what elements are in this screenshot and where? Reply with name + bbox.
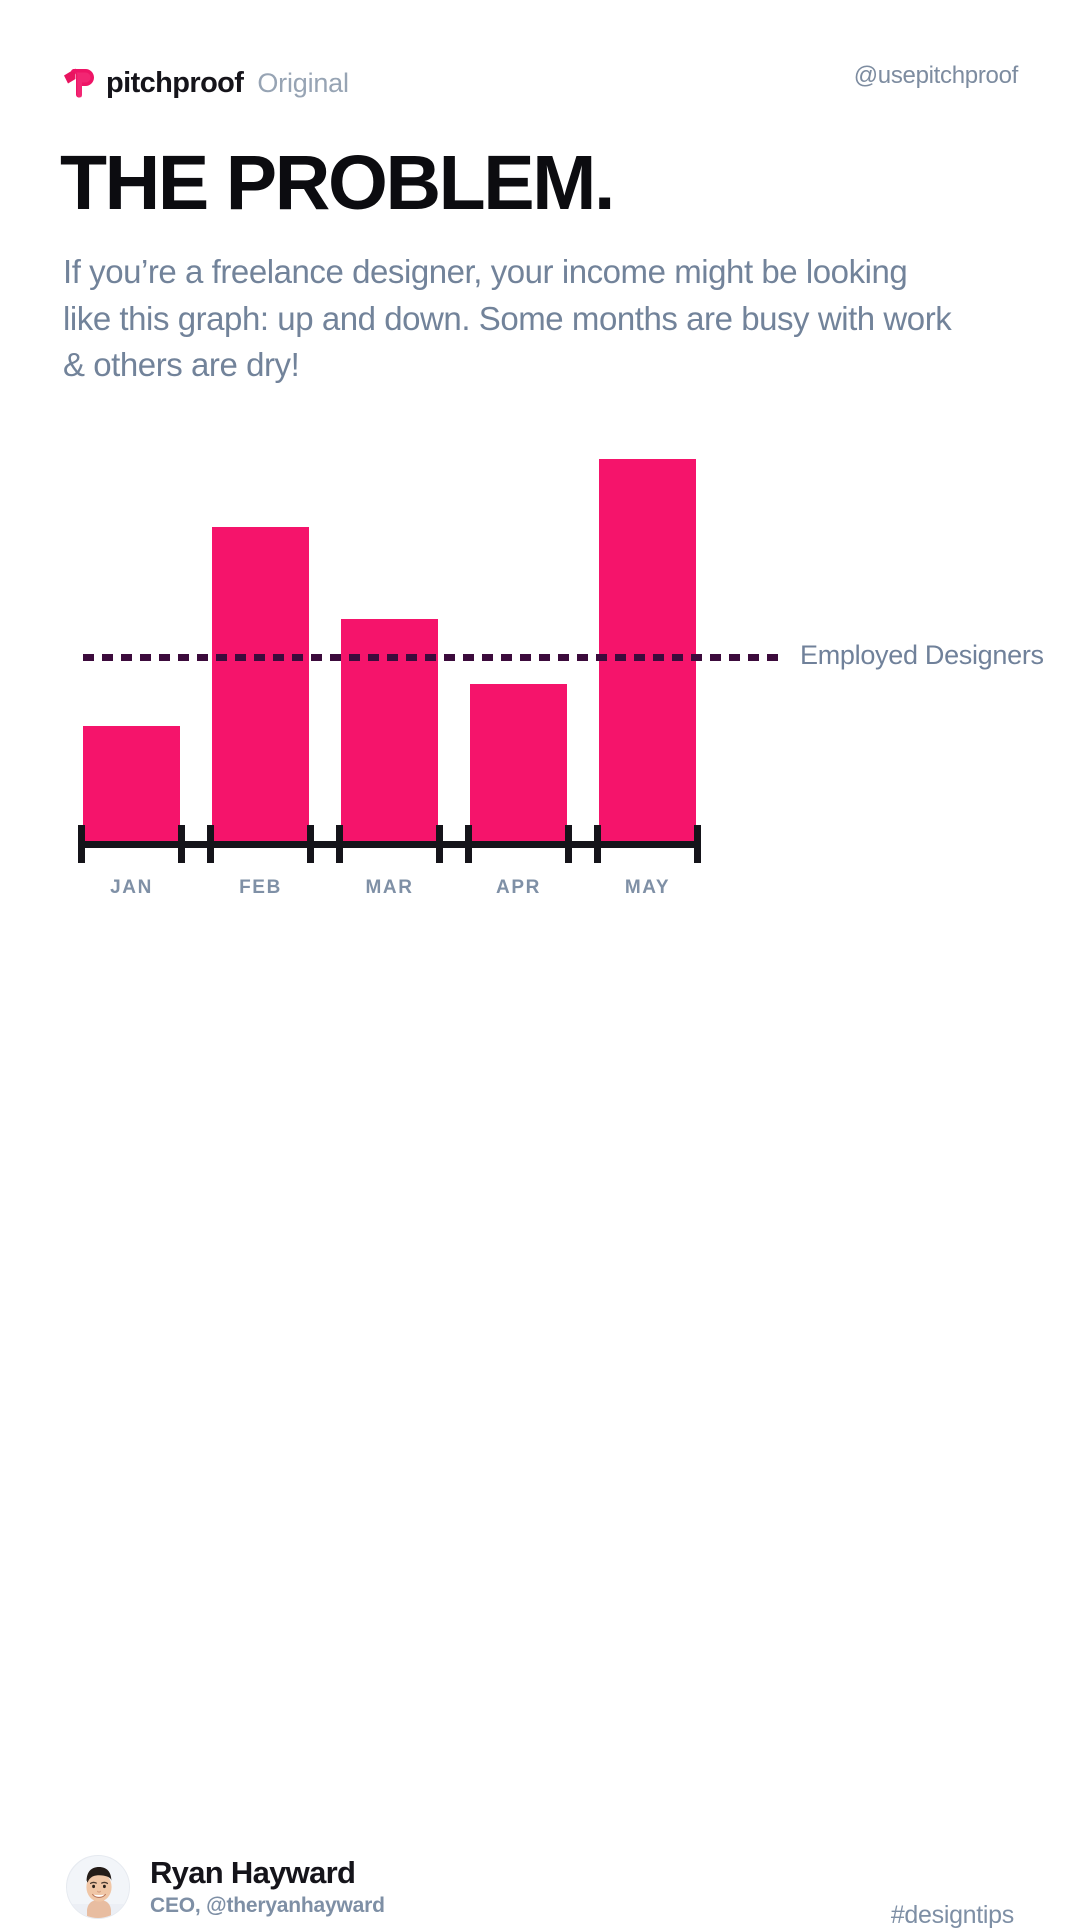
author-role: CEO, @theryanhayward [150, 1893, 385, 1919]
threshold-dashed-line [83, 654, 780, 661]
x-tick-label-feb: FEB [201, 877, 321, 899]
x-axis-tick [594, 825, 601, 863]
x-axis-tick [436, 825, 443, 863]
avatar [66, 1855, 130, 1919]
bar-chart: Employed Designers JANFEBMARAPRMAY [0, 400, 1080, 910]
pitchproof-logo-icon [62, 66, 96, 100]
page-description: If you’re a freelance designer, your inc… [63, 249, 963, 389]
brand-lockup[interactable]: pitchproof Original [62, 66, 349, 100]
author-block[interactable]: Ryan Hayward CEO, @theryanhayward [66, 1855, 385, 1919]
bar-apr [470, 684, 567, 841]
hashtag[interactable]: #designtips [891, 1901, 1014, 1930]
page-header: pitchproof Original @usepitchproof [0, 0, 1080, 130]
threshold-label: Employed Designers [800, 640, 1044, 671]
account-handle[interactable]: @usepitchproof [854, 62, 1018, 90]
author-name: Ryan Hayward [150, 1855, 385, 1891]
page-footer: Ryan Hayward CEO, @theryanhayward #desig… [0, 910, 1080, 1080]
brand-subtitle: Original [257, 66, 348, 100]
x-axis-tick [307, 825, 314, 863]
x-tick-label-jan: JAN [72, 877, 192, 899]
bar-jan [83, 726, 180, 841]
bar-may [599, 459, 696, 841]
x-axis-tick [565, 825, 572, 863]
x-tick-label-may: MAY [588, 877, 708, 899]
chart-plot-area: Employed Designers JANFEBMARAPRMAY [0, 400, 1080, 870]
page-title: THE PROBLEM. [60, 139, 613, 227]
bar-mar [341, 619, 438, 841]
x-axis-tick [336, 825, 343, 863]
brand-name: pitchproof [106, 66, 243, 100]
author-text: Ryan Hayward CEO, @theryanhayward [150, 1855, 385, 1919]
x-axis-tick [465, 825, 472, 863]
x-tick-label-apr: APR [459, 877, 579, 899]
x-axis-line [78, 841, 695, 848]
bar-feb [212, 527, 309, 841]
x-axis-tick [207, 825, 214, 863]
x-tick-label-mar: MAR [330, 877, 450, 899]
x-axis-tick [178, 825, 185, 863]
x-axis-tick [78, 825, 85, 863]
x-axis-tick [694, 825, 701, 863]
